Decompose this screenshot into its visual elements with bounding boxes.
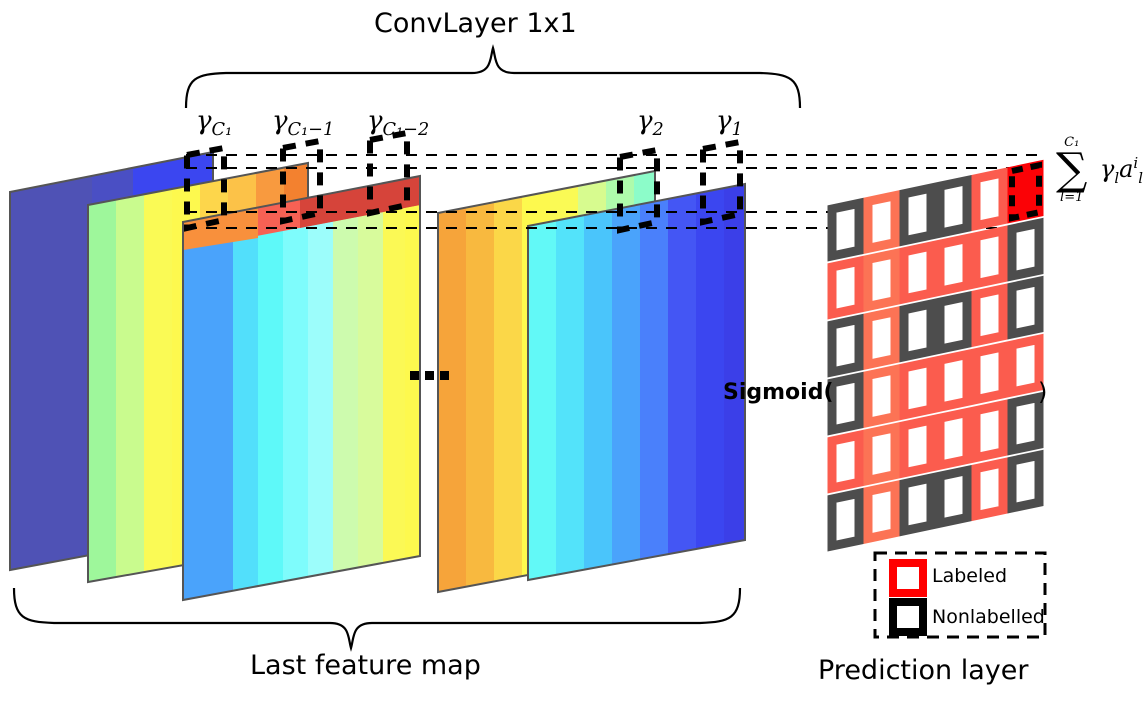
prediction-grid bbox=[832, 165, 1039, 546]
legend-label-labeled: Labeled bbox=[932, 565, 1007, 587]
prediction-cell-gray bbox=[904, 188, 931, 241]
summation-term: γlail bbox=[1100, 156, 1143, 186]
bottom-brace bbox=[14, 588, 740, 648]
ellipsis-dots bbox=[410, 371, 449, 380]
page-title: ConvLayer 1x1 bbox=[374, 8, 577, 39]
prediction-cell-red bbox=[976, 289, 1003, 342]
prediction-cell-salmon bbox=[868, 196, 895, 249]
summation-lower-limit: l=1 bbox=[1056, 191, 1087, 204]
diagram-canvas: ConvLayer 1x1 Last feature map Predictio… bbox=[0, 0, 1147, 720]
prediction-cell-red bbox=[1012, 339, 1039, 392]
prediction-cell-salmon bbox=[868, 254, 895, 307]
prediction-cell-gray bbox=[1012, 281, 1039, 334]
summation-formula: C₁ ∑ l=1 γlail bbox=[1056, 136, 1087, 204]
prediction-cell-gray bbox=[832, 377, 859, 430]
prediction-cell-gray bbox=[940, 471, 967, 524]
prediction-cell-red bbox=[940, 413, 967, 466]
legend-label-nonlabelled: Nonlabelled bbox=[932, 606, 1045, 628]
gamma-label-c1-minus-1: γC₁−1 bbox=[272, 106, 334, 140]
prediction-cell-red bbox=[904, 246, 931, 299]
gamma-label-1: γ1 bbox=[716, 106, 743, 140]
legend-swatch-nonlabelled bbox=[893, 602, 923, 632]
prediction-cell-salmon bbox=[868, 486, 895, 539]
prediction-cell-gray bbox=[1012, 397, 1039, 450]
prediction-cell-red bbox=[940, 355, 967, 408]
prediction-cell-gray bbox=[940, 297, 967, 350]
prediction-cell-gray bbox=[1012, 223, 1039, 276]
gamma-label-c1: γC₁ bbox=[196, 106, 232, 140]
prediction-cell-salmon bbox=[868, 428, 895, 481]
prediction-cell-gray bbox=[904, 478, 931, 531]
gamma-label-2: γ2 bbox=[637, 106, 664, 140]
label-sigmoid-close: ) bbox=[1038, 378, 1047, 406]
summation-sigma-icon: ∑ bbox=[1056, 149, 1087, 191]
prediction-cell-red bbox=[976, 231, 1003, 284]
prediction-cell-gray bbox=[904, 304, 931, 357]
prediction-cell-gray bbox=[832, 319, 859, 372]
label-sigmoid-open: Sigmoid( bbox=[723, 380, 834, 405]
prediction-cell-red bbox=[832, 435, 859, 488]
label-prediction-layer: Prediction layer bbox=[818, 655, 1028, 686]
prediction-cell-red bbox=[976, 173, 1003, 226]
gamma-label-c1-minus-2: γC₁−2 bbox=[367, 106, 429, 140]
prediction-cell-salmon bbox=[868, 370, 895, 423]
prediction-cell-red bbox=[976, 463, 1003, 516]
prediction-cell-gray bbox=[832, 493, 859, 546]
prediction-cell-red bbox=[976, 405, 1003, 458]
prediction-cell-red bbox=[904, 420, 931, 473]
label-last-feature-map: Last feature map bbox=[250, 650, 481, 681]
legend-swatch-labeled bbox=[893, 563, 923, 593]
prediction-cell-gray bbox=[1012, 455, 1039, 508]
prediction-cell-salmon bbox=[868, 312, 895, 365]
prediction-cell-gray bbox=[940, 181, 967, 234]
prediction-cell-red bbox=[976, 347, 1003, 400]
prediction-cell-red bbox=[940, 239, 967, 292]
prediction-cell-red bbox=[904, 362, 931, 415]
prediction-cell-red bbox=[832, 261, 859, 314]
prediction-cell-gray bbox=[832, 203, 859, 256]
top-brace bbox=[186, 48, 800, 108]
